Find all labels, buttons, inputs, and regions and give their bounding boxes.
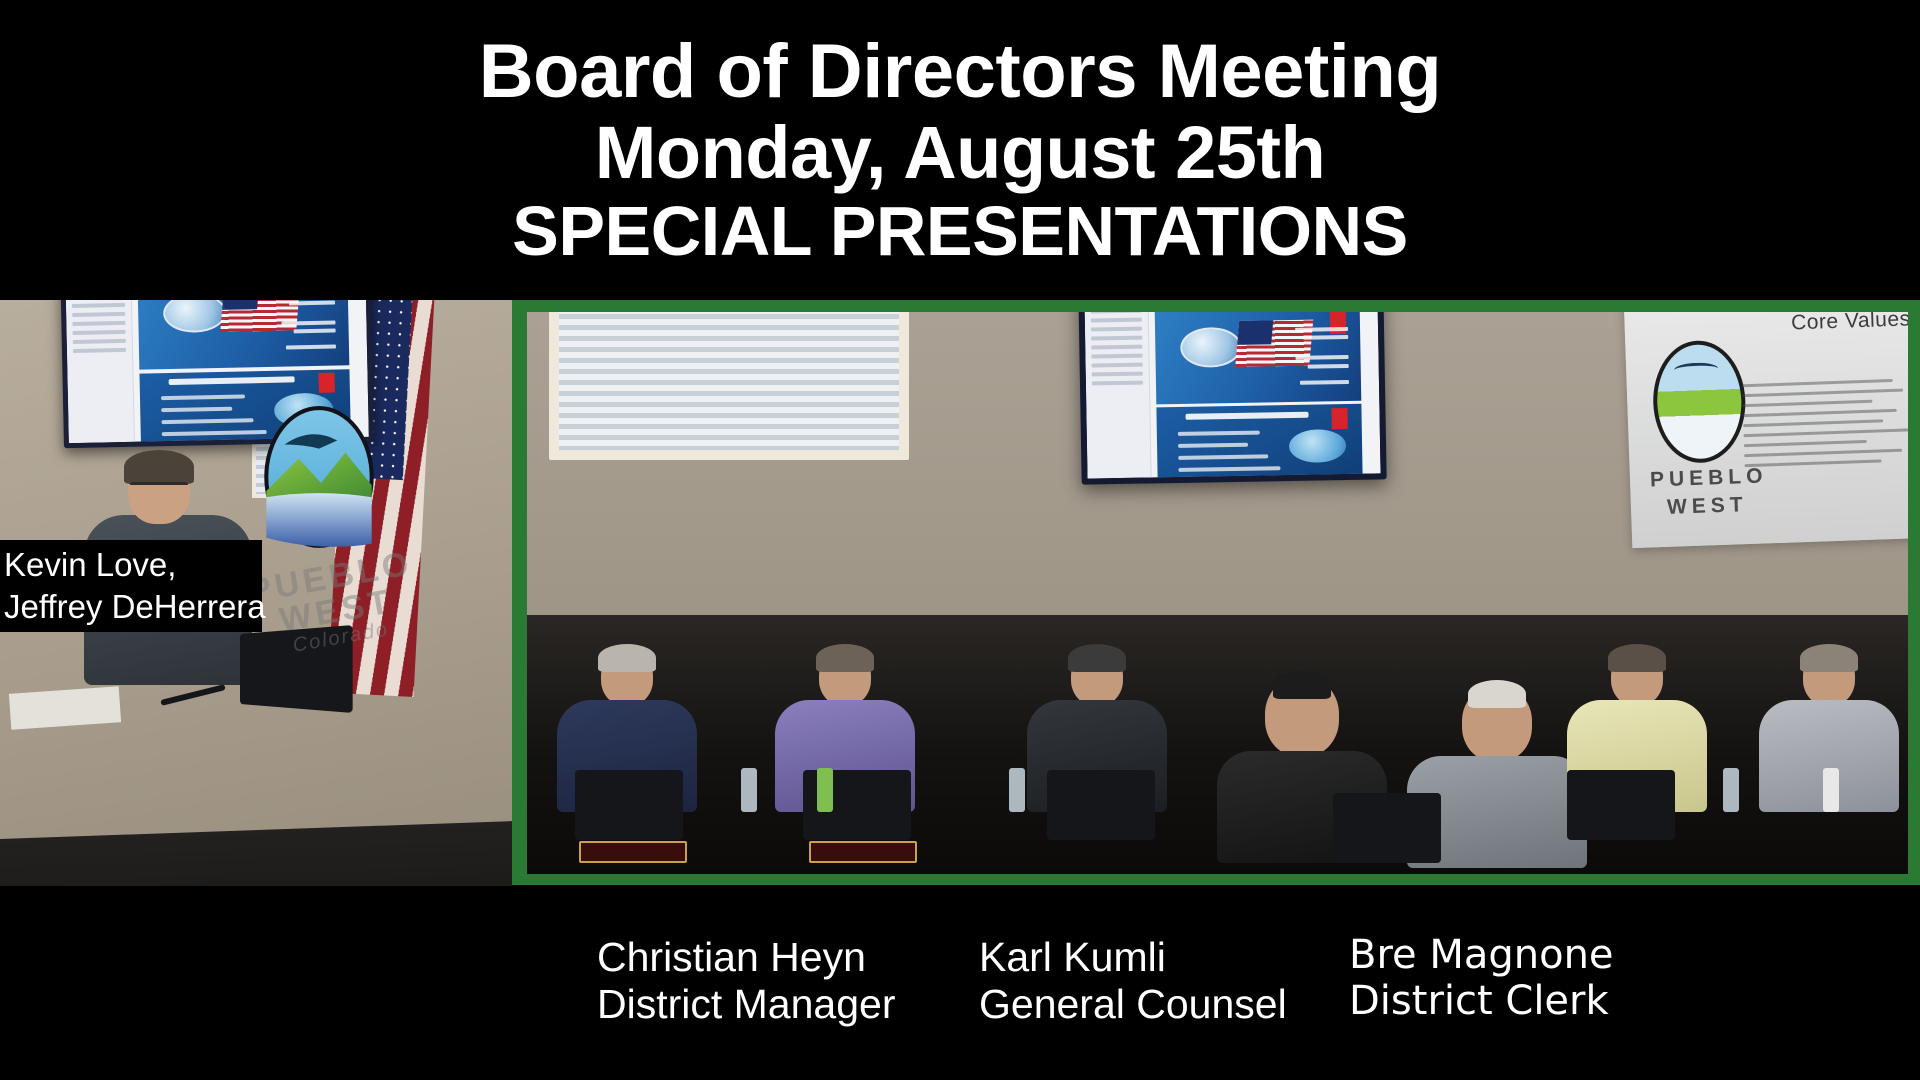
person-name: Karl Kumli xyxy=(979,934,1287,981)
presentation-slide-pane-right xyxy=(1084,312,1380,479)
left-label-line-1: Kevin Love, xyxy=(4,544,262,586)
person-role: District Clerk xyxy=(1349,978,1614,1024)
water-bottle-1 xyxy=(741,768,757,812)
camera-feed-right: Core Values PUEBLO WEST xyxy=(527,312,1908,874)
name-block-general-counsel: Karl Kumli General Counsel xyxy=(979,934,1287,1028)
pueblo-west-logo-icon xyxy=(258,404,380,556)
person-role: District Manager xyxy=(597,981,895,1028)
slide-thumbnail-rail-right xyxy=(1084,312,1152,479)
meeting-section-line: SPECIAL PRESENTATIONS xyxy=(512,196,1408,266)
left-label-line-2: Jeffrey DeHerrera xyxy=(4,586,262,628)
poster-title-text: Core Values xyxy=(1791,312,1908,335)
presenter-hair xyxy=(124,450,194,484)
beverage-can-1 xyxy=(817,768,833,812)
name-block-district-clerk: Bre Magnone District Clerk xyxy=(1349,932,1614,1024)
slide-title-left xyxy=(137,300,349,370)
slide-title-right xyxy=(1155,312,1362,404)
poster-logo-word-2: WEST xyxy=(1667,493,1748,520)
slide-red-accent-2 xyxy=(318,372,335,393)
wall-monitor-right xyxy=(1078,312,1386,485)
person-name: Bre Magnone xyxy=(1349,932,1614,978)
presenter-glasses-icon xyxy=(130,482,188,492)
bottom-black-fill xyxy=(0,886,527,1080)
slide-flag-image xyxy=(220,300,299,332)
cup-1 xyxy=(1823,768,1839,812)
person-role: General Counsel xyxy=(979,981,1287,1028)
slide-thumbnail-rail-left xyxy=(65,300,135,443)
name-block-district-manager: Christian Heyn District Manager xyxy=(597,934,895,1028)
presenter-name-bar: Christian Heyn District Manager Karl Kum… xyxy=(527,886,1908,1080)
meeting-title-line-1: Board of Directors Meeting xyxy=(479,34,1441,110)
slide-logo-icon xyxy=(163,300,227,334)
papers-left xyxy=(9,686,121,730)
laptop-5 xyxy=(1567,770,1675,840)
poster-body-text xyxy=(1741,371,1908,474)
water-bottle-2 xyxy=(1009,768,1025,812)
laptop-3 xyxy=(1047,770,1155,840)
slide-globe-icon-right xyxy=(1288,429,1346,464)
slide-content-right xyxy=(1157,404,1363,484)
poster-logo-icon xyxy=(1651,339,1747,464)
broadcast-stage: Board of Directors Meeting Monday, Augus… xyxy=(0,0,1920,1080)
laptop-1 xyxy=(575,770,683,840)
title-banner: Board of Directors Meeting Monday, Augus… xyxy=(0,0,1920,300)
slide-red-accent-right xyxy=(1329,312,1346,334)
laptop-4 xyxy=(1333,793,1441,863)
lower-third-label-left: Kevin Love, Jeffrey DeHerrera xyxy=(0,540,262,632)
person-name: Christian Heyn xyxy=(597,934,895,981)
water-bottle-3 xyxy=(1723,768,1739,812)
slide-red-accent-right-2 xyxy=(1331,408,1348,429)
core-values-poster: Core Values PUEBLO WEST xyxy=(1624,312,1908,548)
slide-logo-icon-right xyxy=(1180,326,1242,367)
window-blinds-right xyxy=(549,312,909,460)
nameplate-1 xyxy=(579,841,687,863)
nameplate-2 xyxy=(809,841,917,863)
meeting-date-line: Monday, August 25th xyxy=(595,116,1326,190)
